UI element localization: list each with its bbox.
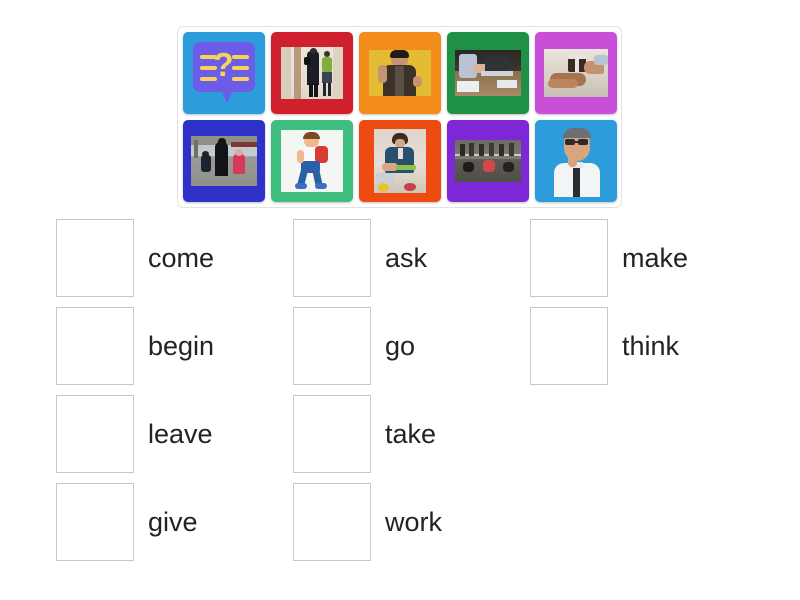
drop-box[interactable] (293, 219, 371, 297)
tile-grid: ? (184, 33, 615, 201)
word-row: go (293, 302, 533, 390)
tile-ask[interactable] (359, 32, 441, 114)
drop-box[interactable] (293, 307, 371, 385)
word-row: leave (56, 390, 296, 478)
tile-come[interactable] (183, 120, 265, 202)
drop-box[interactable] (530, 219, 608, 297)
word-label: think (622, 333, 679, 360)
image-tile-panel: ? (177, 26, 622, 208)
tile-quiz-icon[interactable]: ? (183, 32, 265, 114)
drop-box[interactable] (56, 483, 134, 561)
tile-make[interactable] (359, 120, 441, 202)
word-column-3: make think (530, 214, 770, 390)
word-row: work (293, 478, 533, 566)
word-column-2: ask go take work (293, 214, 533, 566)
word-column-1: come begin leave give (56, 214, 296, 566)
drop-box[interactable] (530, 307, 608, 385)
word-row: think (530, 302, 770, 390)
tile-go[interactable] (271, 120, 353, 202)
word-label: go (385, 333, 415, 360)
word-row: come (56, 214, 296, 302)
drop-box[interactable] (56, 307, 134, 385)
word-label: work (385, 509, 442, 536)
tile-begin[interactable] (447, 120, 529, 202)
photo-man-thinking-glasses (540, 125, 612, 197)
word-answer-list: come begin leave give ask go take (0, 214, 800, 574)
word-row: make (530, 214, 770, 302)
tile-give[interactable] (535, 32, 617, 114)
word-label: make (622, 245, 688, 272)
word-row: ask (293, 214, 533, 302)
photo-hands-typing-laptop (455, 50, 521, 96)
photo-family-walking-street (191, 136, 257, 186)
photo-runners-starting-line (455, 140, 521, 182)
question-mark-glyph: ? (193, 45, 255, 85)
photo-man-gesturing-question (369, 50, 431, 96)
word-row: begin (56, 302, 296, 390)
word-label: give (148, 509, 198, 536)
photo-people-leaving-doorway (281, 47, 343, 99)
word-label: ask (385, 245, 427, 272)
drop-box[interactable] (293, 395, 371, 473)
word-row: take (293, 390, 533, 478)
word-label: come (148, 245, 214, 272)
tile-work[interactable] (447, 32, 529, 114)
photo-woman-cooking-kitchen (374, 129, 426, 193)
photo-hands-giving-gift (544, 49, 608, 97)
illustration-boy-walking-backpack (281, 130, 343, 192)
word-row: give (56, 478, 296, 566)
tile-think[interactable] (535, 120, 617, 202)
word-label: begin (148, 333, 214, 360)
word-label: leave (148, 421, 213, 448)
word-label: take (385, 421, 436, 448)
quiz-question-bubble-icon: ? (193, 42, 255, 104)
drop-box[interactable] (293, 483, 371, 561)
tile-leave[interactable] (271, 32, 353, 114)
drop-box[interactable] (56, 219, 134, 297)
drop-box[interactable] (56, 395, 134, 473)
